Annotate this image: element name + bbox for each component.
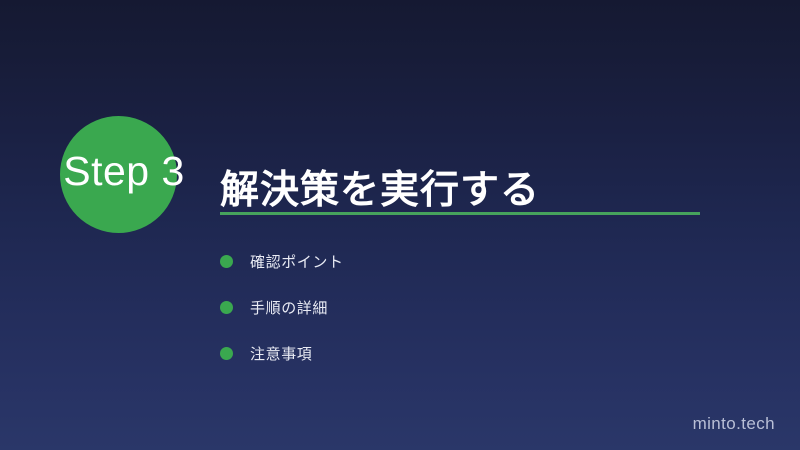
bullet-label: 手順の詳細: [250, 297, 328, 318]
bullet-label: 注意事項: [250, 343, 312, 364]
list-item: 確認ポイント: [220, 238, 344, 284]
slide-canvas: Step 3 解決策を実行する 確認ポイント 手順の詳細 注意事項 minto.…: [0, 0, 800, 450]
bullet-dot-icon: [220, 301, 233, 314]
title-divider: [220, 212, 700, 215]
step-badge-label: Step 3: [44, 150, 204, 193]
bullet-dot-icon: [220, 347, 233, 360]
bullet-dot-icon: [220, 255, 233, 268]
list-item: 手順の詳細: [220, 284, 344, 330]
bullet-label: 確認ポイント: [250, 251, 344, 272]
watermark-brand: minto.tech: [693, 414, 775, 434]
bullet-list: 確認ポイント 手順の詳細 注意事項: [220, 238, 344, 376]
list-item: 注意事項: [220, 330, 344, 376]
slide-title: 解決策を実行する: [220, 169, 540, 214]
